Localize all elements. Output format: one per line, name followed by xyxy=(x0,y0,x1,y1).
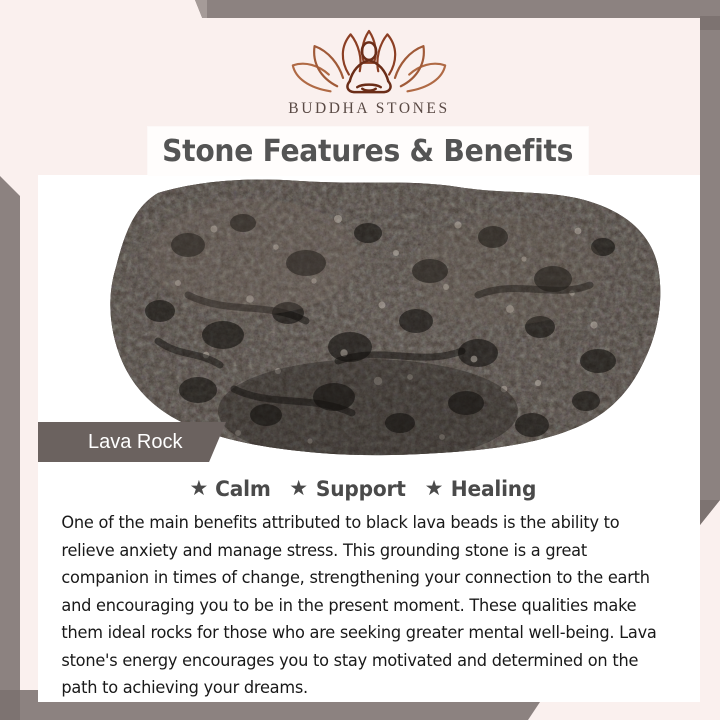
lava-rock-photo xyxy=(38,175,700,463)
hero-label-text: Lava Rock xyxy=(88,431,183,454)
hero-label: Lava Rock xyxy=(38,422,226,462)
description-paragraph: One of the main benefits attributed to b… xyxy=(38,509,674,702)
benefit-label: Calm xyxy=(216,477,272,501)
brand-name: BUDDHA STONES xyxy=(288,100,449,118)
benefit-label: Healing xyxy=(451,477,536,501)
star-icon: ★ xyxy=(425,478,444,499)
lotus-meditation-figure-icon xyxy=(284,26,454,98)
brand-header: BUDDHA STONES xyxy=(38,18,700,130)
content-card: BUDDHA STONES Stone Features & Benefits xyxy=(38,18,700,702)
content-panel: ★ Calm ★ Support ★ Healing One of the ma… xyxy=(38,463,700,702)
hero-image: Lava Rock xyxy=(38,175,700,463)
star-icon: ★ xyxy=(289,478,308,499)
benefits-row: ★ Calm ★ Support ★ Healing xyxy=(38,477,690,501)
infographic-page: BUDDHA STONES Stone Features & Benefits xyxy=(0,0,720,720)
benefit-item-support: ★ Support xyxy=(289,477,407,501)
benefit-label: Support xyxy=(316,477,406,501)
benefit-item-calm: ★ Calm xyxy=(190,477,273,501)
title-banner: Stone Features & Benefits xyxy=(148,127,588,176)
page-title: Stone Features & Benefits xyxy=(162,134,573,169)
benefit-item-healing: ★ Healing xyxy=(425,477,539,501)
star-icon: ★ xyxy=(190,478,209,499)
